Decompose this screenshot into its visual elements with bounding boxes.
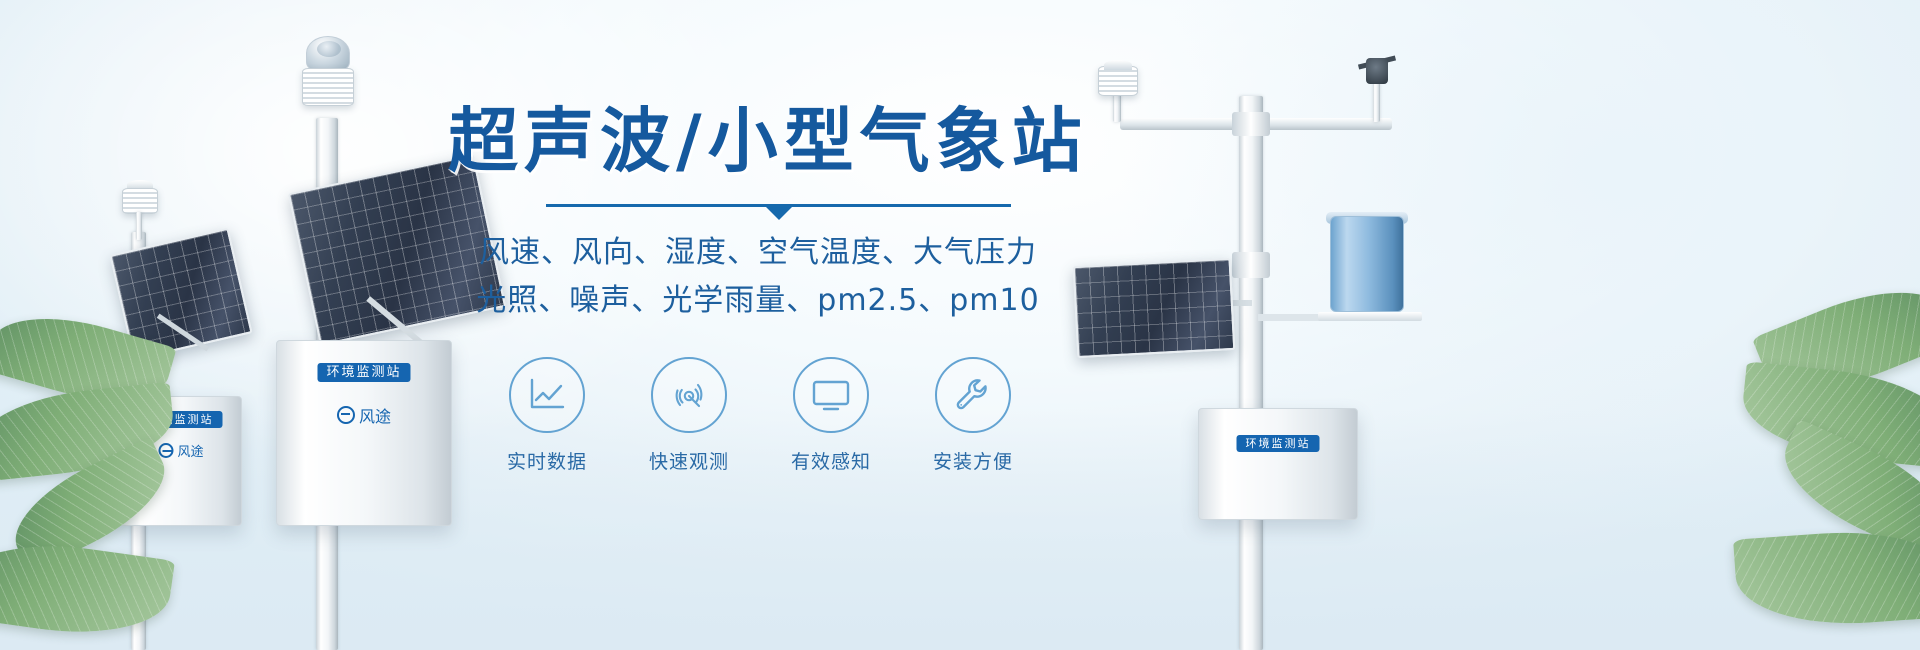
monitor-screen-icon [793,357,869,433]
equipment-shelf [1318,312,1422,321]
pole-collar [1232,252,1270,278]
feature-item-realtime-data[interactable]: 实时数据 [504,357,590,474]
banner-content: 超声波/小型气象站 风速、风向、湿度、空气温度、大气压力 光照、噪声、光学雨量、… [448,104,1068,474]
feature-item-fast-observation[interactable]: 快速观测 [646,357,732,474]
rain-gauge [1330,216,1404,312]
subtitle-line-1: 风速、风向、湿度、空气温度、大气压力 [448,230,1068,276]
station-pole [1239,96,1263,650]
radiation-shield [302,68,354,106]
divider-caret-icon [766,207,792,220]
feature-item-easy-installation[interactable]: 安装方便 [930,357,1016,474]
feature-item-effective-sensing[interactable]: 有效感知 [788,357,874,474]
solar-panel [1073,258,1236,358]
feature-label: 有效感知 [791,447,871,474]
feature-label: 实时数据 [507,447,587,474]
brand-logo-icon [158,443,173,458]
feature-list: 实时数据 快速观测 [452,357,1068,474]
cabinet-brand: 风途 [158,441,203,460]
radar-signal-icon [651,357,727,433]
cabinet-label: 环境监测站 [317,363,410,382]
control-cabinet: 环境监测站 [1198,408,1358,520]
brand-name: 风途 [177,441,203,460]
radiation-shield [122,188,158,214]
cabinet-label: 环境监测站 [1237,435,1320,452]
divider [546,198,1011,218]
wrench-tool-icon [935,357,1011,433]
cabinet-brand: 风途 [337,403,391,427]
sensor-cap-icon [1104,60,1132,70]
sensor-mast [136,212,142,240]
subtitle-line-2: 光照、噪声、光学雨量、pm2.5、pm10 [448,278,1068,324]
ultrasonic-sensor [1098,66,1138,96]
banner-headline: 超声波/小型气象站 [448,104,1068,178]
product-banner: 环境监测站 风途 环境监测站 风途 [0,0,1920,650]
brand-name: 风途 [359,403,391,427]
line-chart-icon [509,357,585,433]
sensor-mast [1113,94,1121,122]
brand-logo-icon [337,406,355,424]
ultrasonic-sensor-dome-icon [306,36,350,70]
feature-label: 安装方便 [933,447,1013,474]
feature-label: 快速观测 [649,447,729,474]
wind-vane-icon [1366,58,1388,84]
pole-collar [1232,112,1270,136]
control-cabinet: 环境监测站 风途 [276,340,452,526]
wind-vane-mast [1373,82,1380,122]
